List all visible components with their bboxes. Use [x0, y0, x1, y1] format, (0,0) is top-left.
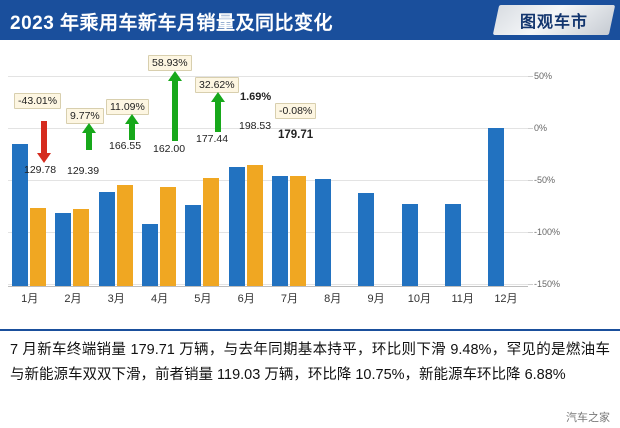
yoy-label: 11.09%	[106, 99, 149, 115]
value-label-2023: 198.53	[239, 120, 271, 132]
bar-2022	[229, 167, 245, 286]
value-label-2023: 162.00	[153, 143, 185, 155]
bar-2022	[99, 192, 115, 286]
y-tick-label: 0%	[534, 123, 547, 133]
x-tick-label: 4月	[138, 290, 181, 306]
bar-2022	[272, 176, 288, 286]
bar-2022	[488, 128, 504, 286]
bar-2022	[445, 204, 461, 286]
x-tick-label: 7月	[268, 290, 311, 306]
bar-2022	[358, 193, 374, 286]
yoy-label: 58.93%	[148, 55, 192, 71]
bar-2023	[117, 185, 133, 286]
bar-group	[354, 48, 397, 286]
bar-group	[268, 48, 311, 286]
y-tick	[528, 76, 533, 77]
yoy-label: 32.62%	[195, 77, 239, 93]
bar-group	[311, 48, 354, 286]
bar-2023	[160, 187, 176, 286]
y-tick	[528, 180, 533, 181]
x-tick-label: 5月	[181, 290, 224, 306]
brand-logo: 图观车市	[496, 5, 612, 35]
x-tick-label: 6月	[225, 290, 268, 306]
x-tick-label: 10月	[398, 290, 441, 306]
bar-2022	[55, 213, 71, 286]
x-axis	[8, 286, 528, 287]
bar-group	[398, 48, 441, 286]
chart-page: 2023 年乘用车新车月销量及同比变化 图观车市	[0, 0, 620, 426]
bar-2023	[73, 209, 89, 286]
y-tick-label: -150%	[534, 279, 560, 289]
bar-2023	[30, 208, 46, 286]
value-label-2023: 166.55	[109, 140, 141, 152]
caption-paragraph: 7 月新车终端销量 179.71 万辆，与去年同期基本持平，环比则下滑 9.48…	[10, 338, 610, 388]
y-tick	[528, 128, 533, 129]
caption-area: 7 月新车终端销量 179.71 万辆，与去年同期基本持平，环比则下滑 9.48…	[0, 329, 620, 428]
x-tick-label: 1月	[8, 290, 51, 306]
yoy-label: 9.77%	[66, 108, 104, 124]
y-tick-label: -100%	[534, 227, 560, 237]
x-tick-label: 3月	[95, 290, 138, 306]
x-tick-label: 9月	[354, 290, 397, 306]
x-tick-label: 8月	[311, 290, 354, 306]
y-tick	[528, 232, 533, 233]
bar-2022	[185, 205, 201, 286]
plot-region: 129.78 129.39 166.55 162.00 177.44 198.5…	[8, 48, 528, 286]
y-tick-label: 50%	[534, 71, 552, 81]
value-label-2023: 179.71	[278, 129, 313, 141]
bar-group	[484, 48, 527, 286]
signature: 汽车之家	[566, 409, 610, 425]
value-label-2023: 129.78	[24, 164, 56, 176]
bar-2023	[203, 178, 219, 286]
y-tick	[528, 284, 533, 285]
brand-logo-text: 图观车市	[496, 5, 612, 35]
bar-2023	[290, 176, 306, 286]
chart-area: 129.78 129.39 166.55 162.00 177.44 198.5…	[0, 40, 620, 325]
bar-group	[95, 48, 138, 286]
x-tick-label: 2月	[51, 290, 94, 306]
bar-2022	[315, 179, 331, 286]
bar-2022	[402, 204, 418, 286]
yoy-label: 1.69%	[240, 91, 271, 103]
x-tick-label: 12月	[484, 290, 527, 306]
value-label-2023: 129.39	[67, 165, 99, 177]
bar-group	[441, 48, 484, 286]
page-title: 2023 年乘用车新车月销量及同比变化	[10, 8, 333, 35]
value-label-2023: 177.44	[196, 133, 228, 145]
x-tick-label: 11月	[441, 290, 484, 306]
yoy-label: -43.01%	[14, 93, 61, 109]
bar-2022	[142, 224, 158, 286]
y-tick-label: -50%	[534, 175, 555, 185]
bar-2023	[247, 165, 263, 286]
yoy-label: -0.08%	[275, 103, 316, 119]
header-bar: 2023 年乘用车新车月销量及同比变化 图观车市	[0, 0, 620, 40]
